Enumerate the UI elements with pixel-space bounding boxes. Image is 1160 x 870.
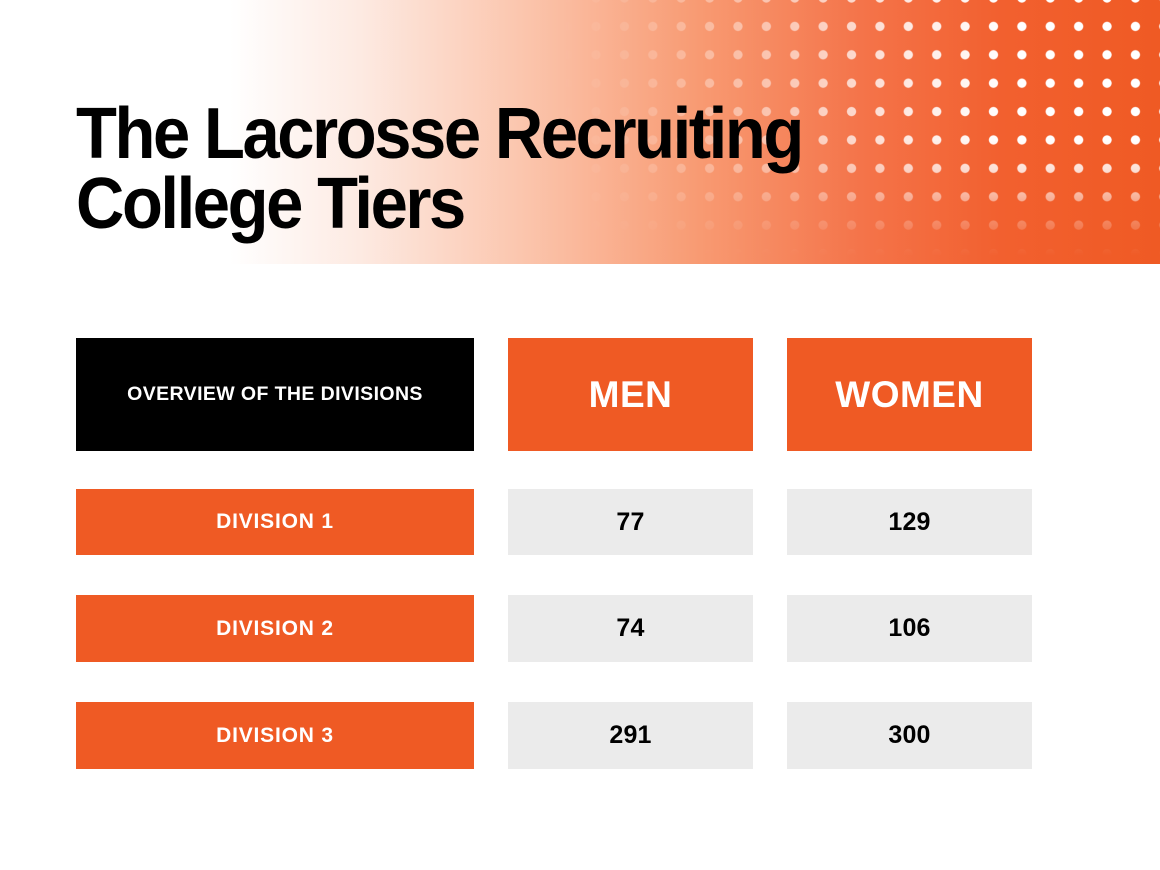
- table-header-overview-of-the-divisions: OVERVIEW OF THE DIVISIONS: [76, 338, 474, 451]
- table-cell-division-1-men: 77: [508, 489, 753, 555]
- table-cell-division-2-men: 74: [508, 595, 753, 662]
- table-cell-division-2-women: 106: [787, 595, 1032, 662]
- table-cell-division-3-women: 300: [787, 702, 1032, 769]
- table-cell-division-1-women: 129: [787, 489, 1032, 555]
- table-header-women: WOMEN: [787, 338, 1032, 451]
- table-cell-division-3-men: 291: [508, 702, 753, 769]
- table-row-label-division-1: DIVISION 1: [76, 489, 474, 555]
- table-row-label-division-3: DIVISION 3: [76, 702, 474, 769]
- table-header-men: MEN: [508, 338, 753, 451]
- infographic-page: The Lacrosse Recruiting College Tiers OV…: [0, 0, 1160, 870]
- divisions-table: OVERVIEW OF THE DIVISIONS MEN WOMEN DIVI…: [0, 0, 1160, 870]
- table-row-label-division-2: DIVISION 2: [76, 595, 474, 662]
